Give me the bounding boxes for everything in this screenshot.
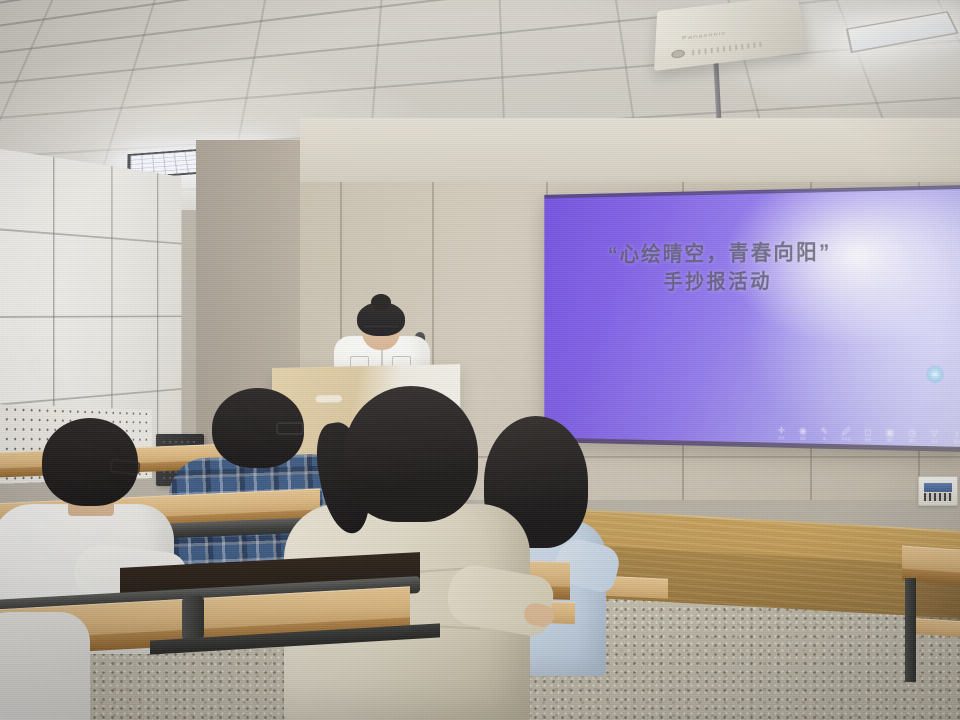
student-beige-head: [344, 386, 478, 522]
toolbar-button[interactable]: 🖉荧光笔: [840, 428, 851, 442]
toolbar-button[interactable]: ▣图形: [884, 428, 896, 442]
toolbar-button-label: 批注: [931, 439, 938, 443]
toolbar-button[interactable]: ✛选择: [776, 426, 787, 440]
presenter-glasses-icon: [364, 326, 398, 334]
toolbar-button-label: 漫游: [800, 436, 806, 440]
bench-support-post: [182, 595, 204, 640]
toolbar-button[interactable]: ✎笔: [819, 427, 830, 441]
toolbar-button-label: 图形: [887, 438, 894, 442]
wall-panel-seam: [0, 315, 181, 318]
ceiling-grid-line: [0, 0, 960, 88]
toolbar-button-label: 选择: [778, 436, 784, 440]
toolbar-button-icon: ▣: [886, 428, 894, 437]
slide-title-block: “心绘晴空，青春向阳” 手抄报活动: [544, 235, 960, 298]
toolbar-button-icon: ✛: [778, 426, 785, 435]
toolbar-button[interactable]: ◉漫游: [797, 427, 808, 441]
projection-screen[interactable]: “心绘晴空，青春向阳” 手抄报活动 ∞ ✛选择◉漫游✎笔🖉荧光笔◻橡皮▣图形◷撤…: [544, 185, 960, 452]
toolbar-button[interactable]: ◻橡皮: [862, 428, 873, 442]
partial-person-left-edge: [0, 612, 90, 720]
toolbar-button-label: 撤销: [909, 439, 916, 443]
toolbar-button[interactable]: ↕翻页: [951, 430, 960, 444]
wall-panel-seam: [157, 173, 158, 453]
toolbar-button-icon: ↕: [955, 430, 959, 439]
classroom-photo: Panasonic “心绘晴空，青春向阳” 手抄报活动 ∞ ✛选择◉漫游✎笔🖉荧…: [0, 0, 960, 720]
whiteboard-toolbar[interactable]: ✛选择◉漫游✎笔🖉荧光笔◻橡皮▣图形◷撤销▽批注↕翻页⋯更多✕关闭: [776, 426, 960, 445]
wall-control-panel[interactable]: [918, 476, 958, 506]
control-panel-display: [924, 483, 952, 492]
projector-vents: [692, 42, 764, 56]
toolbar-button-icon: ◷: [908, 429, 916, 438]
wall-panel-seam: [0, 228, 181, 244]
student-white-glasses-icon: [109, 458, 140, 475]
toolbar-button[interactable]: ◷撤销: [906, 429, 918, 443]
slide-title-line-2: 手抄报活动: [544, 267, 902, 298]
control-panel-switches[interactable]: [924, 493, 952, 501]
projector-brand-label: Panasonic: [682, 31, 727, 41]
wall-top-band: [300, 118, 960, 182]
right-desk-leg: [905, 578, 916, 682]
toolbar-button-label: 笔: [823, 437, 826, 441]
toolbar-button-icon: ◻: [864, 428, 871, 437]
toolbar-button-icon: ▽: [931, 429, 938, 438]
toolbar-button[interactable]: ▽批注: [929, 429, 941, 443]
projector-lens-icon: [671, 49, 685, 59]
toolbar-button-label: 荧光笔: [841, 437, 851, 441]
ceiling-grid-line: [0, 37, 960, 122]
slide-title-line-1: “心绘晴空，青春向阳”: [544, 236, 902, 270]
toolbar-button-icon: ◉: [799, 427, 806, 436]
presenter-hair-bun: [371, 294, 391, 310]
toolbar-button-label: 翻页: [954, 440, 960, 444]
screen-watermark-icon: ∞: [926, 365, 945, 384]
toolbar-button-icon: ✎: [821, 427, 828, 436]
wall-panel-seam: [0, 388, 181, 406]
toolbar-button-label: 橡皮: [865, 438, 871, 442]
toolbar-button-icon: 🖉: [842, 428, 851, 437]
ceiling-grid-line: [0, 0, 960, 32]
